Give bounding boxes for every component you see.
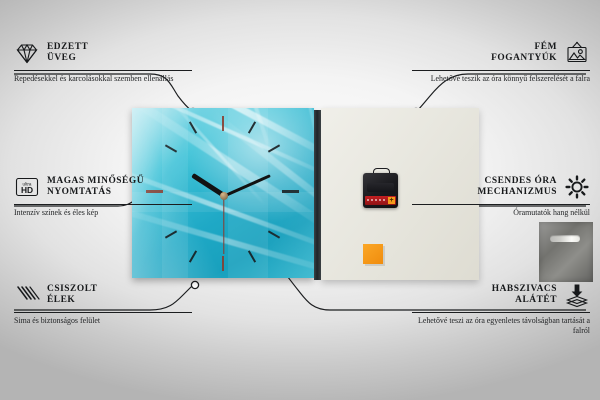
feature-rule bbox=[412, 312, 590, 313]
ultra-hd-icon: ultra HD bbox=[14, 174, 40, 200]
feature-title: HABSZIVACSALÁTÉT bbox=[492, 284, 557, 307]
feature-title: CSISZOLTÉLEK bbox=[47, 284, 97, 307]
feature-rule bbox=[14, 70, 192, 71]
feature-title: CSENDES ÓRAMECHANIZMUS bbox=[478, 176, 558, 199]
feature-description: Intenzív színek és éles kép bbox=[14, 208, 192, 218]
clock-side-edge bbox=[314, 110, 321, 280]
gear-icon bbox=[564, 174, 590, 200]
battery-plus-label: + bbox=[388, 197, 395, 204]
metal-hanger-plate bbox=[539, 222, 593, 282]
feature-rule bbox=[14, 312, 192, 313]
polished-edges-icon bbox=[14, 282, 40, 308]
feature-silent-mechanism: CSENDES ÓRAMECHANIZMUS Óramutatók hang n… bbox=[412, 172, 590, 218]
clock-tick-12 bbox=[222, 116, 224, 131]
hanging-picture-icon bbox=[564, 40, 590, 66]
feature-polished-edges: CSISZOLTÉLEK Sima és biztonságos felület bbox=[14, 280, 192, 326]
feature-rule bbox=[412, 204, 590, 205]
clock-mechanism: + bbox=[363, 168, 398, 208]
feature-hd-print: ultra HD MAGAS MINŐSÉGŰNYOMTATÁS Intenzí… bbox=[14, 172, 192, 218]
infographic-canvas: + EDZETTÜVEG bbox=[0, 0, 600, 400]
feature-description: Lehetővé teszi az óra egyenletes távolsá… bbox=[412, 316, 590, 336]
mechanism-ridge bbox=[367, 183, 394, 192]
feature-rule bbox=[14, 204, 192, 205]
clock-tick-6 bbox=[222, 256, 224, 271]
feature-title: MAGAS MINŐSÉGŰNYOMTATÁS bbox=[47, 176, 144, 199]
wire-node-edges bbox=[191, 281, 198, 288]
feature-metal-handles: FÉMFOGANTYÚK Lehetővé teszik az óra könn… bbox=[412, 38, 590, 84]
svg-text:HD: HD bbox=[21, 185, 33, 195]
battery-compartment: + bbox=[365, 196, 396, 205]
feature-tempered-glass: EDZETTÜVEG Repedésekkel és karcolásokkal… bbox=[14, 38, 192, 84]
feature-description: Óramutatók hang nélkül bbox=[412, 208, 590, 218]
diamond-icon bbox=[14, 40, 40, 66]
feature-title: EDZETTÜVEG bbox=[47, 42, 88, 65]
feature-rule bbox=[412, 70, 590, 71]
foam-pad bbox=[363, 244, 383, 264]
clock-tick-3 bbox=[282, 190, 299, 193]
hanger-slot bbox=[550, 235, 580, 242]
feature-description: Sima és biztonságos felület bbox=[14, 316, 192, 326]
foam-press-icon bbox=[564, 282, 590, 308]
mechanism-body: + bbox=[363, 173, 398, 208]
clock-hand-cap bbox=[220, 192, 228, 200]
feature-description: Lehetővé teszik az óra könnyű felszerelé… bbox=[412, 74, 590, 84]
feature-description: Repedésekkel és karcolásokkal szemben el… bbox=[14, 74, 192, 84]
feature-foam-pad: HABSZIVACSALÁTÉT Lehetővé teszi az óra e… bbox=[412, 280, 590, 336]
feature-title: FÉMFOGANTYÚK bbox=[491, 42, 557, 65]
clock-tick-7 bbox=[189, 250, 197, 262]
